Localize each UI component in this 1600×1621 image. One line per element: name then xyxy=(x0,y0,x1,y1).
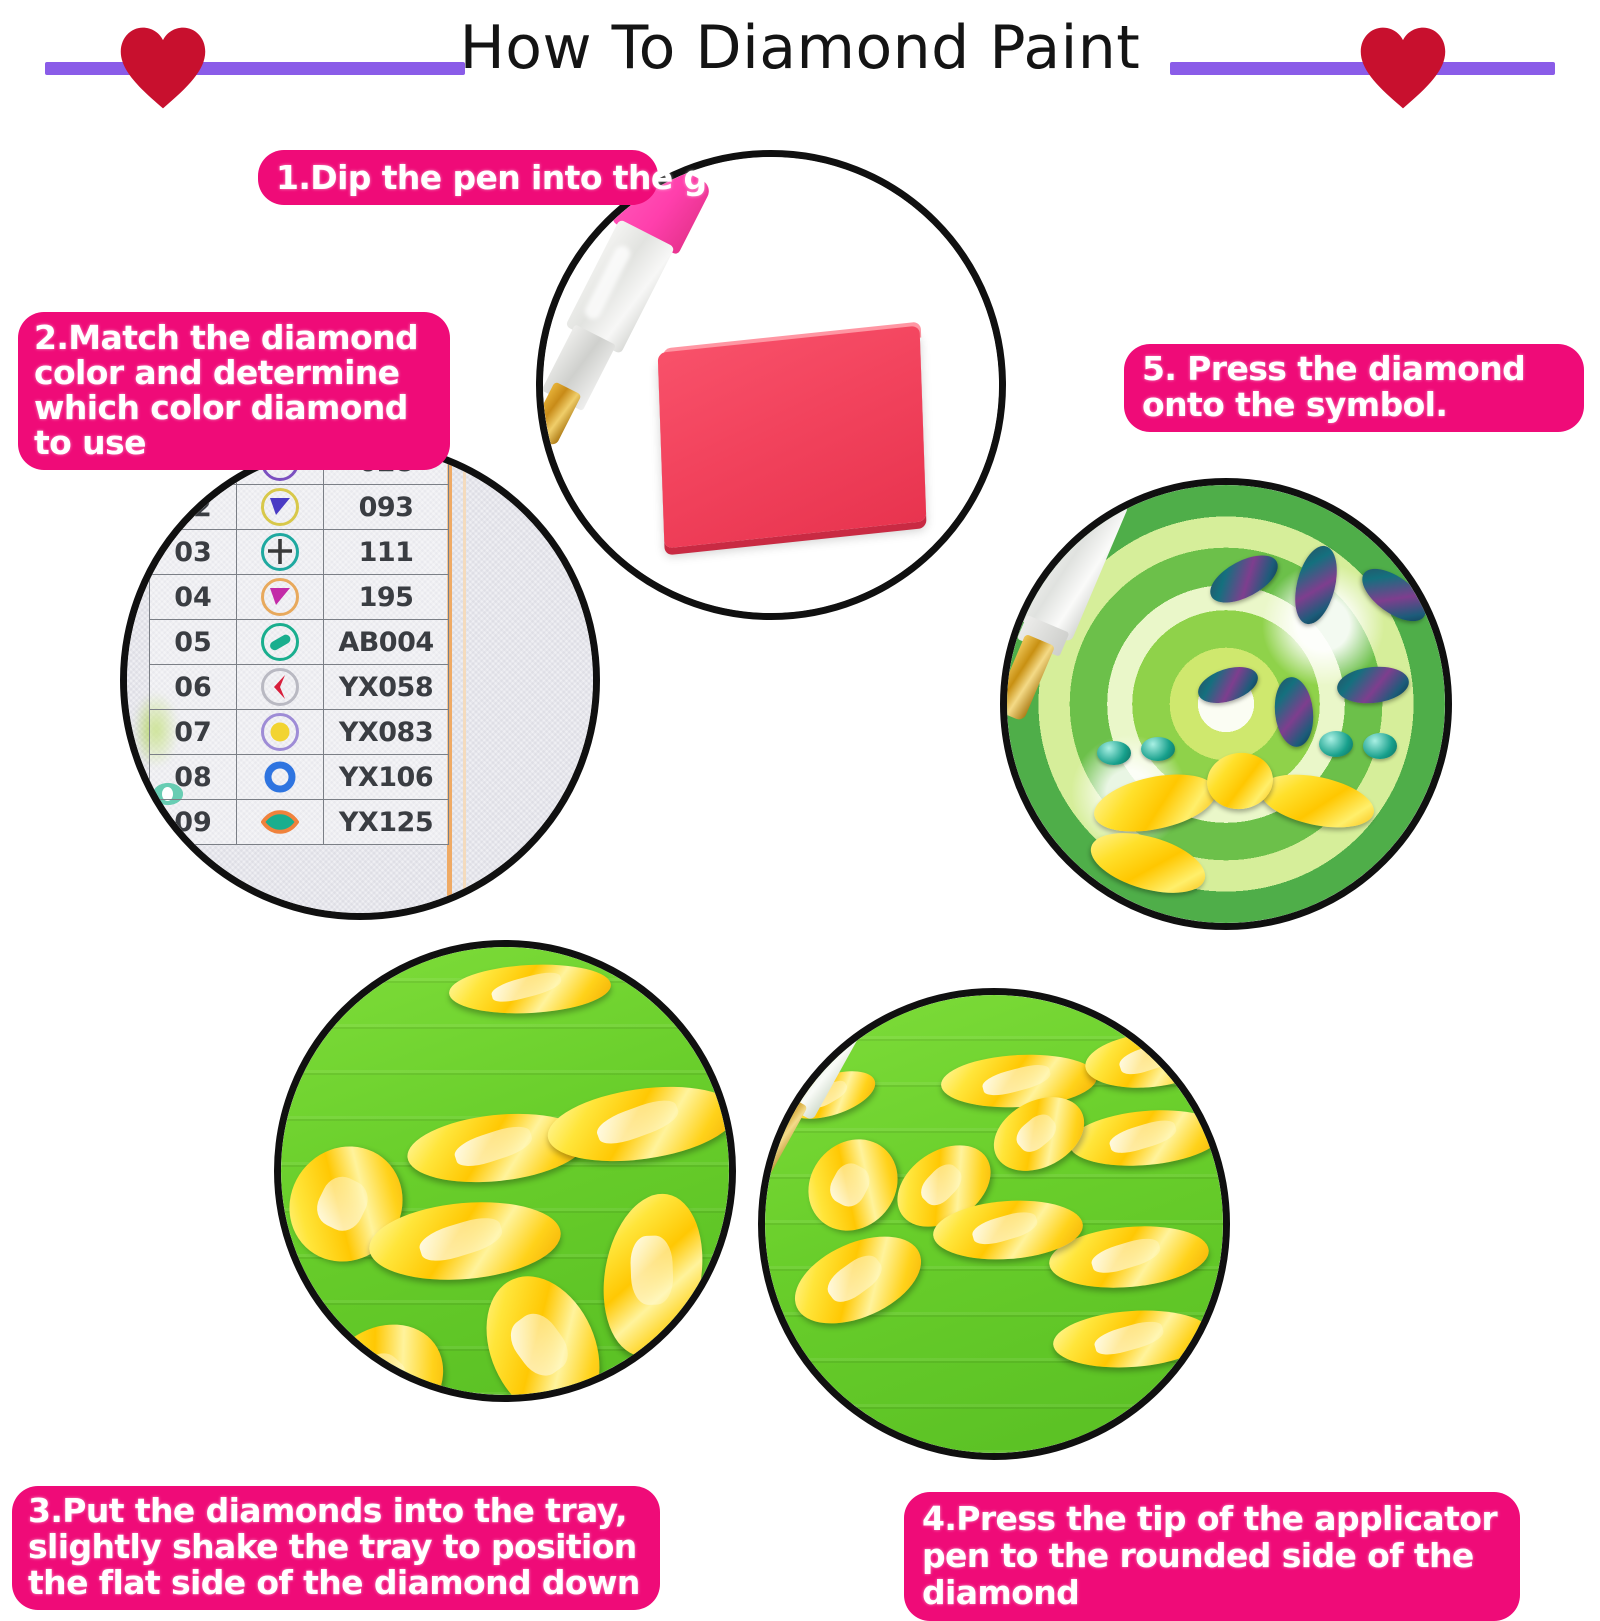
step-3-photo-bubble xyxy=(274,940,736,1402)
chart-cell-symbol xyxy=(237,800,324,845)
chart-cell-code: 111 xyxy=(324,530,449,575)
chart-cell-code: YX125 xyxy=(324,800,449,845)
chart-row: 03111 xyxy=(150,530,449,575)
chart-cell-number: 07 xyxy=(150,710,237,755)
teal-gem xyxy=(1319,731,1353,757)
chart-cell-code: 093 xyxy=(324,485,449,530)
chart-cell-symbol xyxy=(237,530,324,575)
chart-row: 08YX106 xyxy=(150,755,449,800)
chart-row: 04195 xyxy=(150,575,449,620)
chart-cell-number: 08 xyxy=(150,755,237,800)
chart-cell-number: 04 xyxy=(150,575,237,620)
step-4-label: 4.Press the tip of the applicator pen to… xyxy=(904,1492,1520,1621)
step-3-label: 3.Put the diamonds into the tray, slight… xyxy=(12,1486,660,1610)
chart-row: 06YX058 xyxy=(150,665,449,710)
chart-cell-code: AB004 xyxy=(324,620,449,665)
pen-picking-diamond-scene xyxy=(765,995,1223,1453)
chart-cell-symbol xyxy=(237,710,324,755)
chart-cell-symbol xyxy=(237,755,324,800)
chart-cell-number: 02 xyxy=(150,485,237,530)
chart-cell-code: YX106 xyxy=(324,755,449,800)
chart-cell-number: 06 xyxy=(150,665,237,710)
step-2-label: 2.Match the diamond color and determine … xyxy=(18,312,450,470)
symbol-chart-scene: 0102802093031110419505AB00406YX05807YX08… xyxy=(127,447,593,913)
chart-row: 02093 xyxy=(150,485,449,530)
chart-cell-code: 195 xyxy=(324,575,449,620)
step-2-photo-bubble: 0102802093031110419505AB00406YX05807YX08… xyxy=(120,440,600,920)
pink-gel-pad xyxy=(658,326,927,549)
page-title: How To Diamond Paint xyxy=(0,18,1600,78)
step-4-photo-bubble xyxy=(758,988,1230,1460)
chart-row: 09YX125 xyxy=(150,800,449,845)
teal-gem xyxy=(1097,741,1131,765)
teal-gem xyxy=(1363,733,1397,759)
chart-row: 05AB004 xyxy=(150,620,449,665)
step-5-photo-bubble xyxy=(1000,478,1452,930)
chart-cell-symbol xyxy=(237,620,324,665)
chart-cell-symbol xyxy=(237,485,324,530)
chart-cell-number: 05 xyxy=(150,620,237,665)
chart-cell-symbol xyxy=(237,665,324,710)
step-1-photo-bubble xyxy=(536,150,1006,620)
chart-row: 07YX083 xyxy=(150,710,449,755)
orange-guide-line-secondary xyxy=(463,447,466,913)
chart-cell-number: 09 xyxy=(150,800,237,845)
teal-gem xyxy=(1141,737,1175,761)
step-1-label: 1.Dip the pen into the gel xyxy=(258,150,658,205)
diamonds-in-tray-scene xyxy=(281,947,729,1395)
diamond-symbol-chart: 0102802093031110419505AB00406YX05807YX08… xyxy=(149,447,449,845)
step-5-label: 5. Press the diamond onto the symbol. xyxy=(1124,344,1584,432)
page-header: How To Diamond Paint xyxy=(0,0,1600,130)
press-diamond-onto-symbol-scene xyxy=(1007,485,1445,923)
chart-cell-code: YX058 xyxy=(324,665,449,710)
dip-pen-into-gel-scene xyxy=(543,157,999,613)
chart-cell-code: YX083 xyxy=(324,710,449,755)
chart-cell-number: 03 xyxy=(150,530,237,575)
chart-cell-symbol xyxy=(237,575,324,620)
